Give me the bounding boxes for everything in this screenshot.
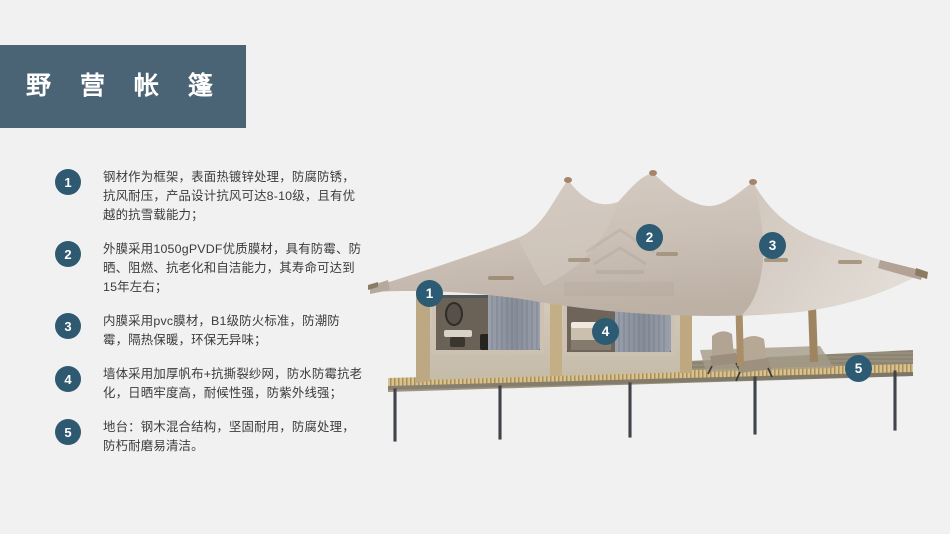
- feature-list: 1 钢材作为框架，表面热镀锌处理，防腐防锈，抗风耐压，产品设计抗风可达8-10级…: [55, 168, 375, 471]
- feature-badge-1: 1: [55, 169, 81, 195]
- feature-text-1: 钢材作为框架，表面热镀锌处理，防腐防锈，抗风耐压，产品设计抗风可达8-10级，且…: [103, 168, 365, 225]
- photo-marker-4[interactable]: 4: [592, 318, 619, 345]
- list-item: 5 地台：钢木混合结构，坚固耐用，防腐处理，防朽耐磨易清洁。: [55, 418, 375, 456]
- feature-text-4: 墙体采用加厚帆布+抗撕裂纱网，防水防霉抗老化，日晒牢度高，耐候性强，防紫外线强；: [103, 365, 365, 403]
- list-item: 1 钢材作为框架，表面热镀锌处理，防腐防锈，抗风耐压，产品设计抗风可达8-10级…: [55, 168, 375, 225]
- photo-marker-5[interactable]: 5: [845, 355, 872, 382]
- photo-marker-1[interactable]: 1: [416, 280, 443, 307]
- slide-root: 野 营 帐 篷 1 钢材作为框架，表面热镀锌处理，防腐防锈，抗风耐压，产品设计抗…: [0, 0, 950, 534]
- photo-marker-2[interactable]: 2: [636, 224, 663, 251]
- feature-badge-5: 5: [55, 419, 81, 445]
- list-item: 3 内膜采用pvc膜材，B1级防火标准，防潮防霉，隔热保暖，环保无异味；: [55, 312, 375, 350]
- tent-product-image: [368, 140, 928, 450]
- page-title-bar: 野 营 帐 篷: [0, 45, 246, 128]
- feature-text-5: 地台：钢木混合结构，坚固耐用，防腐处理，防朽耐磨易清洁。: [103, 418, 365, 456]
- photo-marker-3[interactable]: 3: [759, 232, 786, 259]
- feature-text-2: 外膜采用1050gPVDF优质膜材，具有防霉、防晒、阻燃、抗老化和自洁能力，其寿…: [103, 240, 365, 297]
- feature-badge-4: 4: [55, 366, 81, 392]
- photo-marker-layer: [368, 140, 928, 450]
- list-item: 2 外膜采用1050gPVDF优质膜材，具有防霉、防晒、阻燃、抗老化和自洁能力，…: [55, 240, 375, 297]
- feature-badge-2: 2: [55, 241, 81, 267]
- list-item: 4 墙体采用加厚帆布+抗撕裂纱网，防水防霉抗老化，日晒牢度高，耐候性强，防紫外线…: [55, 365, 375, 403]
- page-title: 野 营 帐 篷: [26, 74, 224, 99]
- feature-text-3: 内膜采用pvc膜材，B1级防火标准，防潮防霉，隔热保暖，环保无异味；: [103, 312, 365, 350]
- feature-badge-3: 3: [55, 313, 81, 339]
